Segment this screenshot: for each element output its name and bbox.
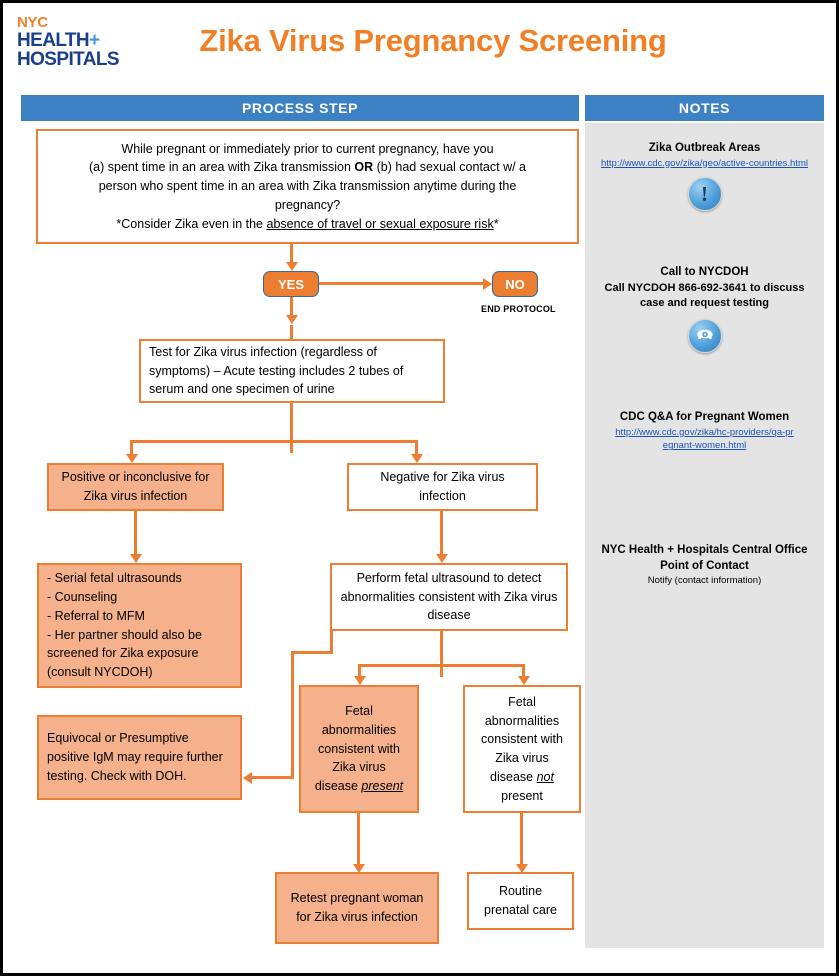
note-cdc-qa: CDC Q&A for Pregnant Women http://www.cd… [585, 410, 824, 453]
column-header-notes: NOTES [585, 95, 824, 121]
connector-positive-to-actions [134, 511, 137, 556]
action-item-3: - Referral to MFM [47, 607, 232, 626]
action-item-1: - Serial fetal ultrasounds [47, 569, 232, 588]
positive-inconclusive-box: Positive or inconclusive for Zika virus … [47, 463, 224, 511]
action-item-4: - Her partner should also be screened fo… [47, 626, 232, 682]
connector-ultrasound-split-bar [358, 664, 525, 667]
arrow-to-abnormal-present [354, 676, 366, 685]
notes-panel: Zika Outbreak Areas http://www.cdc.gov/z… [585, 123, 824, 948]
screening-question-box: While pregnant or immediately prior to c… [36, 129, 579, 244]
screening-question-text: While pregnant or immediately prior to c… [38, 136, 577, 238]
note-cdcqa-title: CDC Q&A for Pregnant Women [585, 410, 824, 426]
connector-yes-down-stub [290, 297, 293, 317]
note-cdcqa-link[interactable]: http://www.cdc.gov/zika/hc-providers/qa-… [585, 426, 824, 454]
abnormalities-not-present-text: Fetal abnormalities consistent with Zika… [465, 689, 579, 810]
note-nycdoh-text: Call NYCDOH 866-692-3641 to discuss case… [585, 281, 824, 313]
column-header-process-step: PROCESS STEP [21, 95, 579, 121]
actions-box: - Serial fetal ultrasounds - Counseling … [37, 563, 242, 688]
logo-line-health: HEALTH+ [17, 31, 137, 50]
abnormalities-present-text: Fetal abnormalities consistent with Zika… [301, 698, 417, 800]
abnormalities-present-box: Fetal abnormalities consistent with Zika… [299, 685, 419, 813]
note-central-office-sub: Notify (contact information) [585, 574, 824, 587]
nyc-health-hospitals-logo: NYC HEALTH+ HOSPITALS [17, 15, 137, 71]
equivocal-text: Equivocal or Presumptive positive IgM ma… [39, 725, 240, 789]
test-for-zika-text: Test for Zika virus infection (regardles… [141, 339, 443, 403]
abnormalities-not-present-emphasis: not [537, 770, 554, 784]
connector-yes-to-no [319, 282, 485, 285]
question-line-1: While pregnant or immediately prior to c… [46, 140, 569, 159]
question-line-4: pregnancy? [46, 196, 569, 215]
note-nycdoh-title: Call to NYCDOH [585, 265, 824, 281]
retest-text: Retest pregnant woman for Zika virus inf… [277, 885, 437, 931]
note-central-office-title-2: Point of Contact [585, 559, 824, 575]
question-line-3: person who spent time in an area with Zi… [46, 177, 569, 196]
arrow-question-to-yes [286, 262, 298, 271]
note-zika-outbreak-areas: Zika Outbreak Areas http://www.cdc.gov/z… [585, 141, 824, 211]
arrow-to-equivocal-box [243, 772, 252, 784]
question-line-2: (a) spent time in an area with Zika tran… [46, 158, 569, 177]
logo-line-hospitals: HOSPITALS [17, 50, 137, 69]
note-central-office-title-1: NYC Health + Hospitals Central Office [585, 543, 824, 559]
alert-icon: ! [688, 177, 722, 211]
connector-test-down-trunk [290, 403, 293, 453]
positive-inconclusive-text: Positive or inconclusive for Zika virus … [49, 464, 222, 510]
arrow-yes-to-no [483, 278, 492, 290]
negative-box: Negative for Zika virus infection [347, 463, 538, 511]
perform-ultrasound-text: Perform fetal ultrasound to detect abnor… [332, 565, 566, 629]
connector-equivocal-vertical [291, 651, 294, 779]
connector-negative-to-ultrasound [440, 511, 443, 556]
routine-prenatal-care-box: Routine prenatal care [467, 872, 574, 930]
test-for-zika-box: Test for Zika virus infection (regardles… [139, 339, 445, 403]
connector-ultrasound-left-elbow [291, 651, 333, 654]
routine-prenatal-care-text: Routine prenatal care [469, 878, 572, 924]
note-outbreak-title: Zika Outbreak Areas [585, 141, 824, 157]
connector-equivocal-horizontal [251, 776, 294, 779]
connector-present-to-retest [357, 813, 360, 866]
phone-icon [688, 319, 722, 353]
connector-question-to-yes [290, 244, 293, 264]
connector-notpresent-to-routine [520, 813, 523, 866]
retest-box: Retest pregnant woman for Zika virus inf… [275, 872, 439, 944]
connector-test-split-bar [130, 440, 418, 443]
equivocal-box: Equivocal or Presumptive positive IgM ma… [37, 715, 242, 800]
arrow-to-negative-box [411, 454, 423, 463]
arrow-negative-to-ultrasound [436, 554, 448, 563]
no-button[interactable]: NO [492, 271, 538, 297]
arrow-yes-down [286, 315, 298, 324]
logo-plus: + [89, 30, 100, 51]
question-line-5: *Consider Zika even in the absence of tr… [46, 215, 569, 234]
arrow-to-positive-box [126, 454, 138, 463]
note-central-office: NYC Health + Hospitals Central Office Po… [585, 543, 824, 587]
connector-yes-to-test [290, 325, 293, 339]
note-call-to-nycdoh: Call to NYCDOH Call NYCDOH 866-692-3641 … [585, 265, 824, 353]
end-protocol-label: END PROTOCOL [481, 304, 556, 314]
arrow-positive-to-actions [130, 554, 142, 563]
logo-line-nyc: NYC [17, 15, 137, 30]
perform-ultrasound-box: Perform fetal ultrasound to detect abnor… [330, 563, 568, 631]
negative-text: Negative for Zika virus infection [349, 464, 536, 510]
actions-text: - Serial fetal ultrasounds - Counseling … [39, 565, 240, 686]
note-outbreak-link[interactable]: http://www.cdc.gov/zika/geo/active-count… [585, 157, 824, 171]
action-item-2: - Counseling [47, 588, 232, 607]
page-title: Zika Virus Pregnancy Screening [153, 23, 713, 59]
arrow-to-abnormal-not-present [518, 676, 530, 685]
abnormalities-not-present-box: Fetal abnormalities consistent with Zika… [463, 685, 581, 813]
connector-ultrasound-trunk [440, 631, 443, 677]
flowchart-page: NYC HEALTH+ HOSPITALS Zika Virus Pregnan… [0, 0, 839, 976]
abnormalities-present-emphasis: present [361, 779, 403, 793]
yes-button[interactable]: YES [263, 271, 319, 297]
